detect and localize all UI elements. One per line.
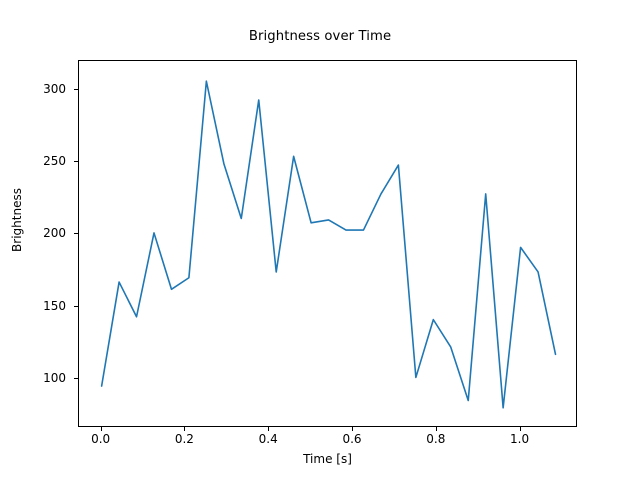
y-axis-tick-labels: 100150200250300 [0, 60, 66, 427]
x-tick-mark [184, 427, 185, 431]
x-tick-mark [352, 427, 353, 431]
x-axis-tick-labels: 0.00.20.40.60.81.0 [0, 428, 640, 450]
y-tick-label: 250 [43, 154, 66, 168]
chart-title: Brightness over Time [0, 29, 640, 44]
y-tick-label: 150 [43, 299, 66, 313]
y-tick-mark [74, 233, 78, 234]
data-series-line [79, 61, 578, 428]
x-tick-mark [268, 427, 269, 431]
y-tick-label: 200 [43, 226, 66, 240]
plot-area [78, 60, 577, 427]
x-tick-mark [520, 427, 521, 431]
x-tick-label: 0.4 [259, 432, 278, 446]
x-tick-label: 0.6 [342, 432, 361, 446]
x-tick-mark [436, 427, 437, 431]
x-tick-label: 0.0 [91, 432, 110, 446]
x-tick-mark [101, 427, 102, 431]
chart-figure: Brightness over Time Brightness 10015020… [0, 0, 640, 480]
y-tick-label: 100 [43, 371, 66, 385]
y-tick-mark [74, 89, 78, 90]
y-tick-label: 300 [43, 82, 66, 96]
y-tick-mark [74, 306, 78, 307]
brightness-line [102, 81, 556, 408]
x-tick-label: 0.8 [426, 432, 445, 446]
x-axis-label: Time [s] [78, 452, 577, 466]
x-tick-label: 0.2 [175, 432, 194, 446]
x-tick-label: 1.0 [510, 432, 529, 446]
y-tick-mark [74, 161, 78, 162]
y-tick-mark [74, 378, 78, 379]
